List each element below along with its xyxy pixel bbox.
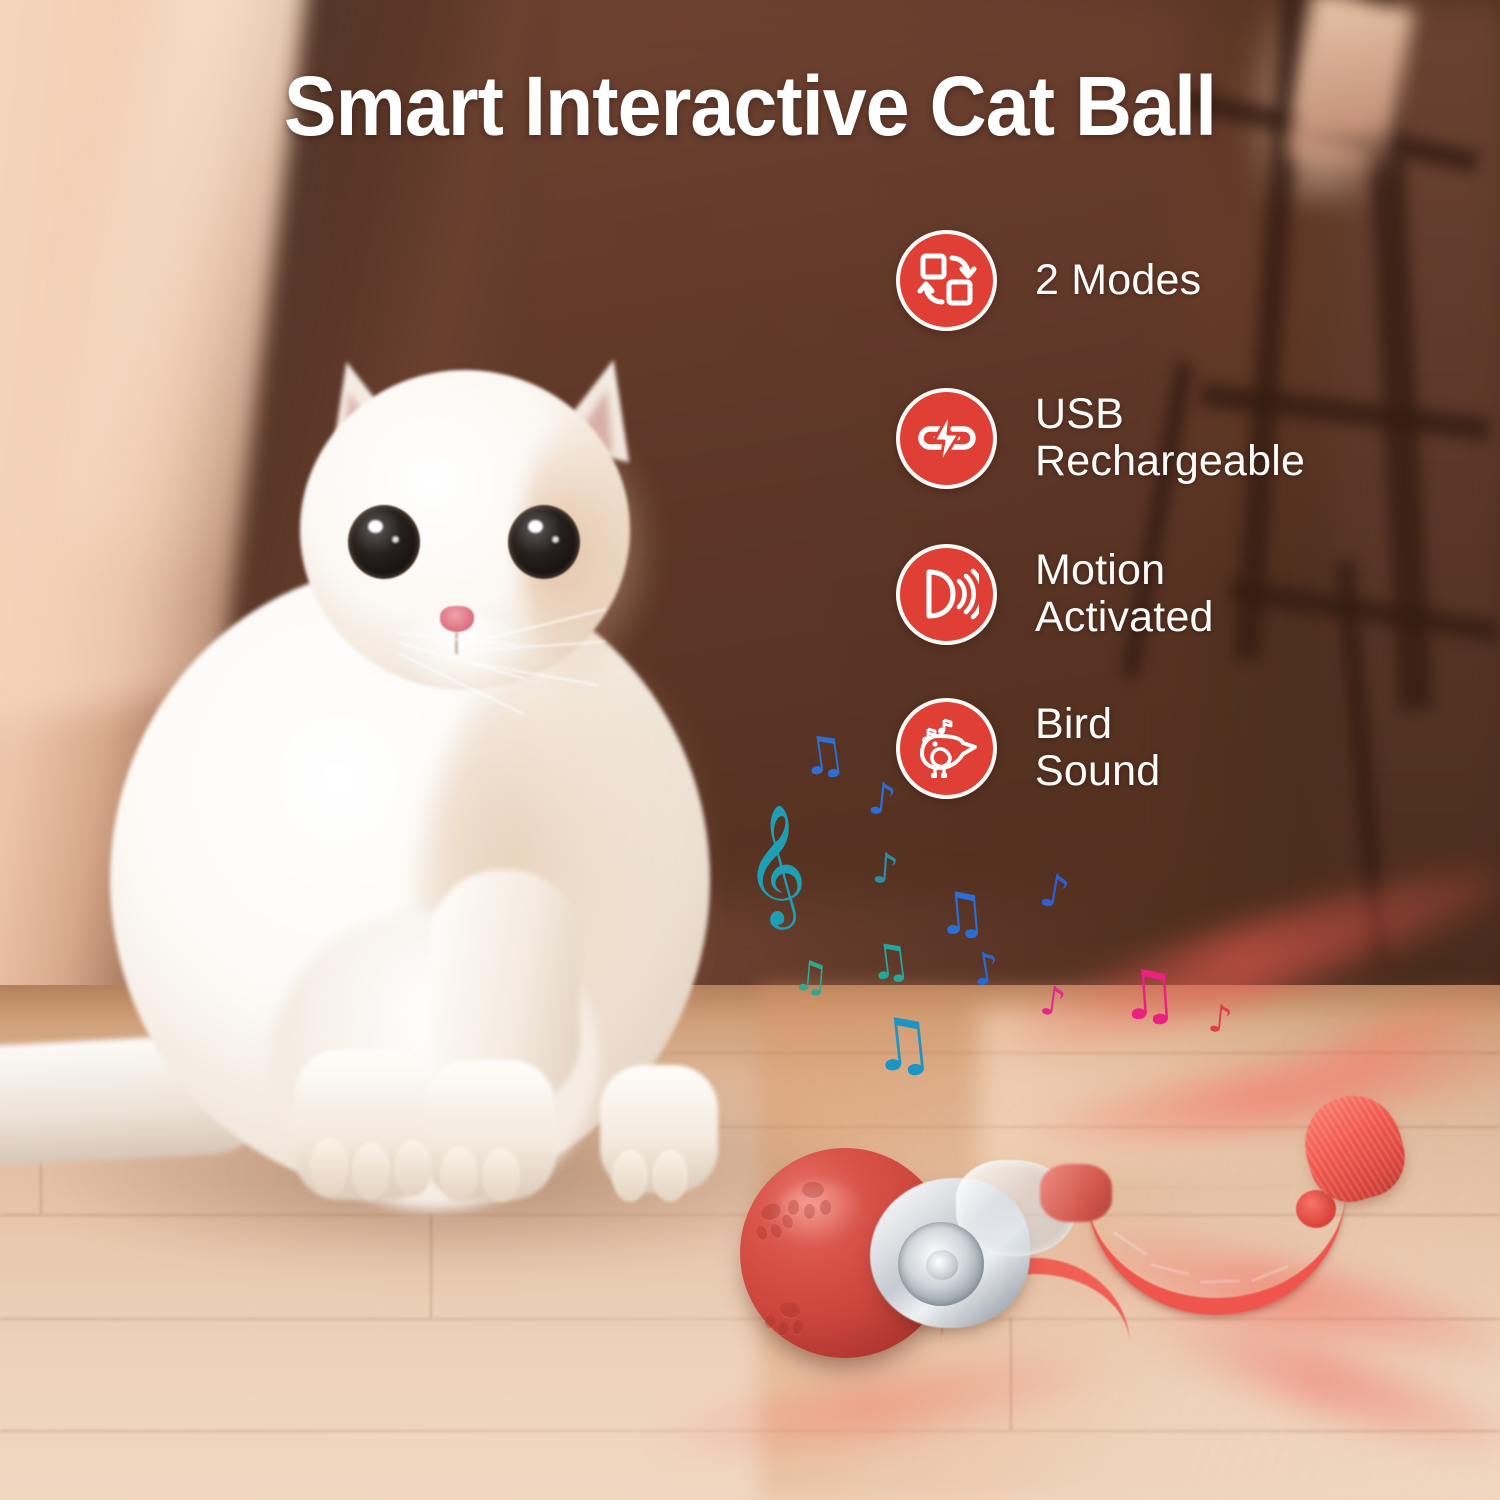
music-note: ♫ xyxy=(933,882,990,944)
product-cat-ball xyxy=(730,1130,1410,1390)
ball-wheel-core xyxy=(926,1250,958,1280)
feature-label: Bird Sound xyxy=(1035,701,1160,795)
music-note: ♫ xyxy=(790,954,831,999)
cat-toe xyxy=(394,1140,432,1196)
feature-item-motion-activated[interactable]: Motion Activated xyxy=(896,542,1456,646)
product-marketing-image: ♫♪𝄞♪♫♪♫♫♪♫♫♪♪ Smart Interactive Cat Ball… xyxy=(0,0,1500,1500)
usb-rechargeable-icon xyxy=(896,388,997,489)
cat-toe xyxy=(482,1148,520,1202)
music-note: ♫ xyxy=(865,936,914,989)
bird-sound-icon xyxy=(896,698,997,799)
motion-activated-icon xyxy=(896,544,997,645)
music-note: ♪ xyxy=(1206,999,1234,1039)
music-note: ♪ xyxy=(871,847,901,891)
cat-eye-right xyxy=(508,505,580,579)
music-note: ♪ xyxy=(866,777,899,824)
feature-item-usb-rechargeable[interactable]: USB Rechargeable xyxy=(896,386,1456,490)
feature-label: Motion Activated xyxy=(1035,547,1214,641)
music-note: ♪ xyxy=(1036,866,1073,916)
feature-list: 2 Modes USB Rechargeable xyxy=(896,228,1456,851)
cat-photo-subject xyxy=(0,350,800,1230)
cat-eye-glint xyxy=(368,520,383,533)
two-modes-icon xyxy=(896,230,997,331)
ball-red-cap xyxy=(1040,1164,1112,1222)
cat-toe xyxy=(652,1150,688,1202)
feature-item-bird-sound[interactable]: Bird Sound xyxy=(896,696,1456,800)
cat-eye-glint xyxy=(392,536,399,543)
cat-toe xyxy=(352,1142,390,1200)
cat-nose xyxy=(440,606,474,632)
music-note: ♪ xyxy=(1037,980,1068,1023)
feature-label: USB Rechargeable xyxy=(1035,391,1305,485)
cat-eye-glint xyxy=(552,536,559,543)
cat-eye-left xyxy=(348,505,420,579)
cat-mouth xyxy=(455,632,458,654)
music-note: ♫ xyxy=(1116,960,1182,1032)
page-title: Smart Interactive Cat Ball xyxy=(45,58,1455,155)
feature-item-2-modes[interactable]: 2 Modes xyxy=(896,228,1456,332)
music-note: ♫ xyxy=(866,1005,938,1083)
cat-toe xyxy=(612,1150,648,1202)
music-note: 𝄞 xyxy=(740,810,809,918)
cat-toe xyxy=(310,1138,348,1196)
cat-toe xyxy=(440,1146,478,1202)
music-note: ♪ xyxy=(969,946,1004,994)
feature-label: 2 Modes xyxy=(1035,257,1201,304)
cat-eye-glint xyxy=(528,520,543,533)
music-note: ♫ xyxy=(797,727,850,785)
